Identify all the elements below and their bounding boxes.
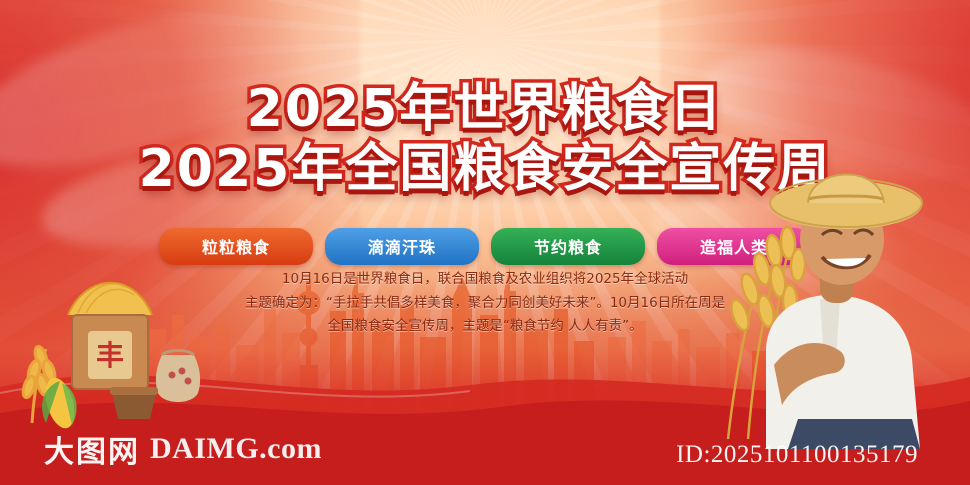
straw-hat-crown [808, 174, 884, 203]
granary-character: 丰 [96, 339, 124, 372]
farmer-photo [670, 119, 970, 449]
granary-illustration: 丰 [16, 253, 256, 433]
granary-roof [68, 283, 152, 315]
watermark-en-text: DAIMG.com [150, 432, 322, 466]
watermark: 大图网 DAIMG.com [44, 427, 322, 471]
grain-basket [112, 393, 156, 419]
image-id-code: ID:2025101100135179 [676, 441, 918, 469]
slogan-pill-2[interactable]: 滴滴汗珠 [325, 228, 479, 265]
slogan-pill-3[interactable]: 节约粮食 [491, 228, 645, 265]
poster-canvas: 2025年世界粮食日 2025年全国粮食安全宣传周 粒粒粮食 滴滴汗珠 节约粮食… [0, 0, 970, 485]
grain-sack [156, 355, 200, 402]
watermark-cn-text: 大图网 [44, 427, 140, 471]
